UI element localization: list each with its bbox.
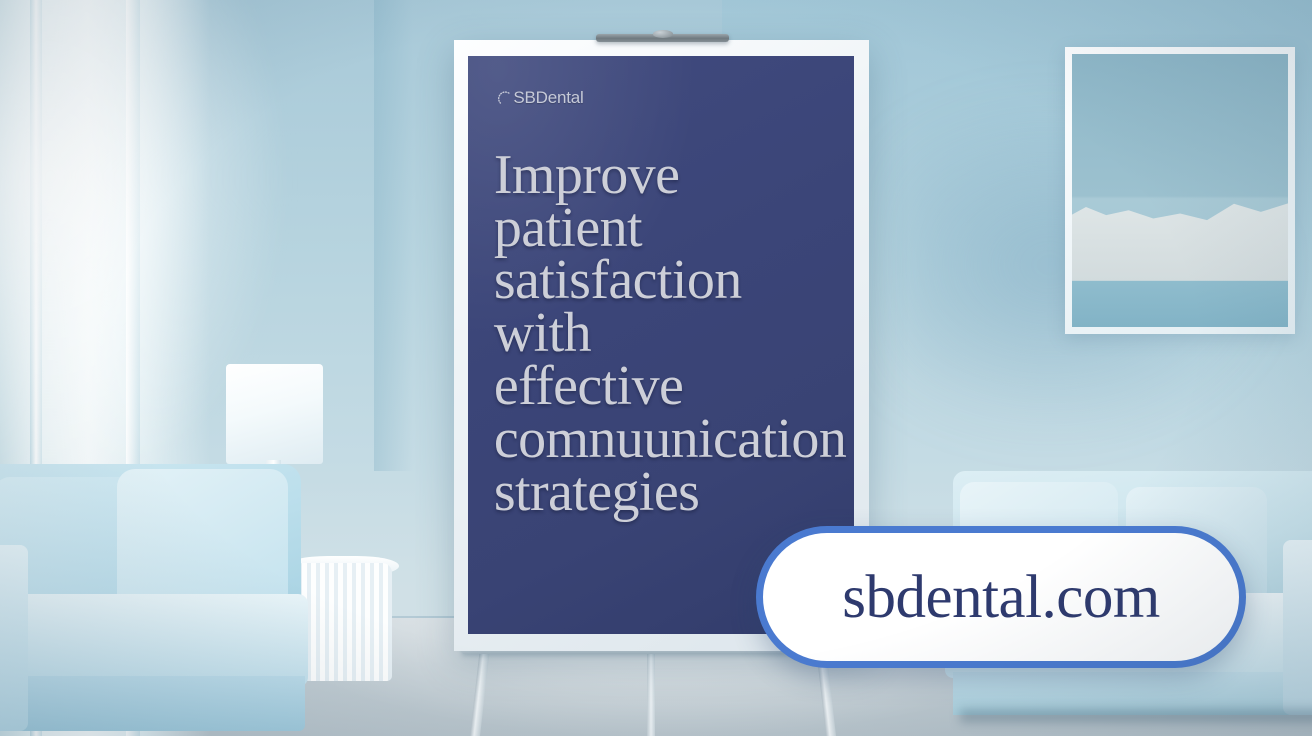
- table-lamp-shade: [226, 364, 323, 463]
- left-sofa-seat: [0, 594, 308, 687]
- wall-art-water: [1072, 281, 1288, 327]
- left-sofa-armrest: [0, 545, 28, 730]
- headline-line-5: effective: [494, 360, 841, 413]
- left-sofa-base: [0, 676, 305, 730]
- left-sofa: [0, 464, 315, 736]
- right-sofa-armrest: [1283, 540, 1312, 715]
- wall-art-mountains: [1072, 199, 1288, 281]
- headline-line-4: with: [494, 307, 841, 360]
- website-url-badge[interactable]: sbdental.com: [756, 526, 1247, 668]
- brand-logo-text: SBDental: [513, 88, 583, 108]
- right-sofa-shadow: [960, 709, 1312, 722]
- board-clamp-knob: [653, 30, 673, 37]
- website-url-text: sbdental.com: [842, 567, 1160, 628]
- framed-wall-art: [1065, 47, 1295, 334]
- poster-headline: Improve patient satisfaction with effect…: [494, 149, 841, 519]
- easel-leg-center: [647, 651, 655, 736]
- brand-logo: SBDental: [495, 88, 583, 108]
- headline-line-7: strategies: [494, 466, 841, 519]
- wall-corner: [374, 0, 413, 471]
- arc-swoosh-icon: [495, 89, 514, 108]
- headline-line-6: comnuunication: [494, 413, 841, 466]
- headline-line-1: Improve: [494, 149, 841, 202]
- right-sofa-base: [953, 672, 1312, 714]
- scene-image: SBDental Improve patient satisfaction wi…: [0, 0, 1312, 736]
- headline-line-3: satisfaction: [494, 254, 841, 307]
- wall-art-canvas: [1072, 54, 1288, 327]
- headline-line-2: patient: [494, 202, 841, 255]
